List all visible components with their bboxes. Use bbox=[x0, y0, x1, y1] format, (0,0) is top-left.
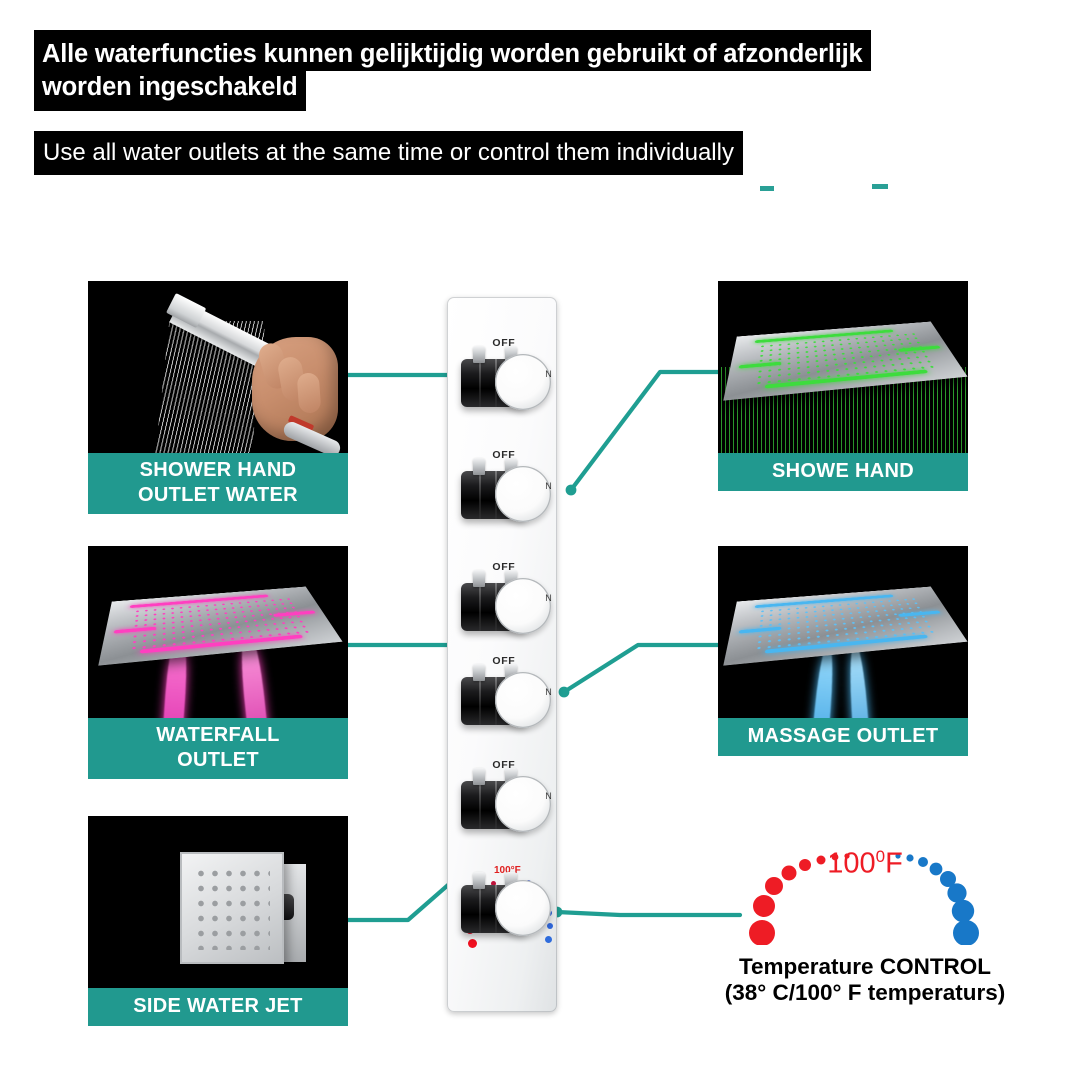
temperature-degree-symbol: 0 bbox=[876, 847, 885, 866]
knob-peg-left bbox=[473, 768, 485, 785]
knob-dial-face[interactable] bbox=[495, 466, 551, 522]
headline-block: Alle waterfuncties kunnen gelijktijdig w… bbox=[34, 30, 974, 111]
temp-scale-dot-cold-5 bbox=[547, 923, 553, 929]
photo-blue-led-massage-panel bbox=[718, 546, 968, 718]
card-label-massage-outlet: MASSAGE OUTLET bbox=[718, 718, 968, 756]
knob-on-label: N bbox=[545, 791, 552, 801]
headline-line-2: worden ingeschakeld bbox=[34, 70, 306, 111]
connector-showe-hand bbox=[571, 372, 718, 490]
ceiling-shower-plate bbox=[723, 587, 967, 666]
card-shower-hand-outlet-water[interactable]: SHOWER HAND OUTLET WATER bbox=[88, 281, 348, 514]
jet-nozzle-grid bbox=[194, 866, 270, 950]
knob-on-label: N bbox=[545, 369, 552, 379]
card-label-line-1: SHOWER HAND bbox=[90, 458, 346, 483]
photo-pink-led-waterfall-panel bbox=[88, 546, 348, 718]
knob-on-label: N bbox=[545, 481, 552, 491]
card-label-line-2: OUTLET bbox=[90, 748, 346, 773]
card-waterfall-outlet[interactable]: WATERFALL OUTLET bbox=[88, 546, 348, 779]
temp-scale-dot-hot-6 bbox=[468, 939, 477, 948]
card-label-showe-hand: SHOWE HAND bbox=[718, 453, 968, 491]
temperature-value: 1000F bbox=[740, 847, 990, 881]
arc-dot-hot-1 bbox=[749, 920, 775, 945]
knob-peg-left bbox=[473, 458, 485, 475]
card-label-line-1: MASSAGE OUTLET bbox=[720, 724, 966, 749]
valve-knob-4[interactable]: OFF N bbox=[447, 655, 557, 743]
connector-temperature-control bbox=[557, 912, 740, 915]
card-label-line-1: SIDE WATER JET bbox=[90, 994, 346, 1019]
connector-dot-4 bbox=[559, 687, 570, 698]
arc-dot-cold-7 bbox=[952, 900, 974, 922]
card-label-line-1: SHOWE HAND bbox=[720, 459, 966, 484]
card-label-line-2: OUTLET WATER bbox=[90, 483, 346, 508]
photo-square-body-jet bbox=[88, 816, 348, 988]
knob-dial-face[interactable] bbox=[495, 776, 551, 832]
card-side-water-jet[interactable]: SIDE WATER JET bbox=[88, 816, 348, 1026]
arc-dot-cold-6 bbox=[947, 883, 966, 902]
valve-knob-5[interactable]: OFF N bbox=[447, 759, 557, 847]
temperature-unit: F bbox=[885, 848, 903, 880]
knob-peg-left bbox=[473, 664, 485, 681]
card-label-waterfall-outlet: WATERFALL OUTLET bbox=[88, 718, 348, 779]
headline-line-1: Alle waterfuncties kunnen gelijktijdig w… bbox=[34, 30, 871, 71]
knob-dial-face[interactable] bbox=[495, 880, 551, 936]
temperature-caption-line-2: (38° C/100° F temperaturs) bbox=[705, 979, 1025, 1006]
photo-handheld-shower bbox=[88, 281, 348, 453]
card-label-shower-hand-outlet-water: SHOWER HAND OUTLET WATER bbox=[88, 453, 348, 514]
connector-dot-2 bbox=[566, 485, 577, 496]
valve-knob-6-thermostatic[interactable]: 100°F bbox=[447, 863, 557, 951]
subheadline-block: Use all water outlets at the same time o… bbox=[34, 131, 743, 175]
stray-dash-left bbox=[760, 186, 774, 191]
valve-knob-1[interactable]: OFF N bbox=[447, 337, 557, 425]
card-label-side-water-jet: SIDE WATER JET bbox=[88, 988, 348, 1026]
arc-dot-cold-8 bbox=[953, 920, 979, 945]
jet-face-plate bbox=[180, 852, 284, 964]
card-showe-hand[interactable]: SHOWE HAND bbox=[718, 281, 968, 491]
connector-massage-outlet bbox=[564, 645, 718, 692]
stray-dash-right bbox=[872, 184, 888, 189]
card-massage-outlet[interactable]: MASSAGE OUTLET bbox=[718, 546, 968, 756]
thermostatic-valve-panel[interactable]: OFF N OFF N OFF N OFF bbox=[447, 297, 557, 1012]
knob-on-label: N bbox=[545, 687, 552, 697]
arc-dot-hot-2 bbox=[753, 895, 775, 917]
temperature-number: 100 bbox=[827, 848, 875, 880]
knob-on-label: N bbox=[545, 593, 552, 603]
valve-knob-3[interactable]: OFF N bbox=[447, 561, 557, 649]
hand-finger-3 bbox=[297, 372, 322, 413]
photo-green-led-rain-panel bbox=[718, 281, 968, 453]
knob-dial-face[interactable] bbox=[495, 354, 551, 410]
card-label-line-1: WATERFALL bbox=[90, 723, 346, 748]
temp-scale-dot-cold-6 bbox=[545, 936, 552, 943]
knob-peg-left bbox=[473, 872, 485, 889]
valve-knob-2[interactable]: OFF N bbox=[447, 449, 557, 537]
knob-peg-left bbox=[473, 570, 485, 587]
knob-dial-face[interactable] bbox=[495, 672, 551, 728]
temperature-caption-line-1: Temperature CONTROL bbox=[705, 953, 1025, 980]
temperature-control-diagram: 1000F Temperature CONTROL (38° C/100° F … bbox=[740, 845, 990, 1015]
knob-dial-face[interactable] bbox=[495, 578, 551, 634]
ceiling-shower-plate bbox=[98, 587, 342, 666]
subheadline-text: Use all water outlets at the same time o… bbox=[34, 131, 743, 175]
knob-peg-left bbox=[473, 346, 485, 363]
